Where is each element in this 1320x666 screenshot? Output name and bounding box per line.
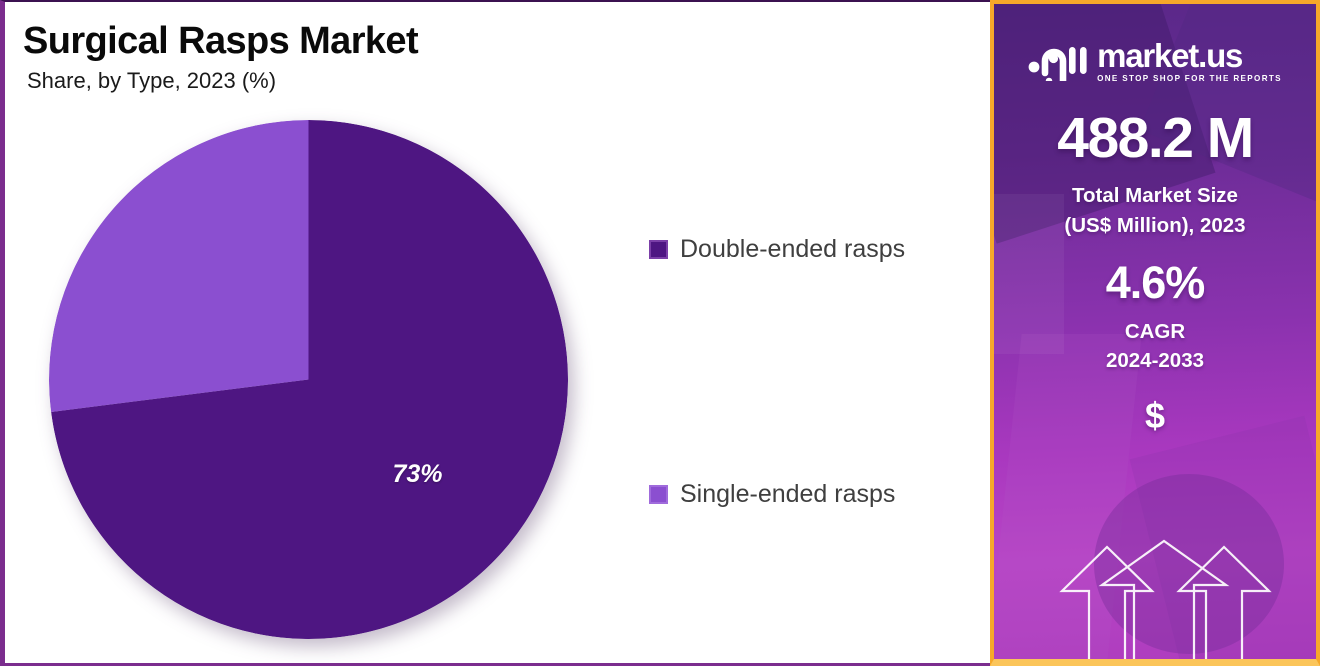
chart-header: Surgical Rasps Market Share, by Type, 20… — [23, 22, 418, 92]
pie-slices — [49, 120, 568, 639]
market-size-caption-line1: Total Market Size — [994, 181, 1316, 211]
dollar-icon: $ — [994, 398, 1316, 434]
market-size-value: 488.2 M — [994, 110, 1316, 167]
stat-content: market.us ONE STOP SHOP FOR THE REPORTS … — [994, 4, 1316, 659]
market-size-caption-line2: (US$ Million), 2023 — [994, 211, 1316, 241]
pie-chart: 73% — [49, 120, 568, 639]
pie-slice-single-ended-rasps[interactable] — [49, 120, 308, 412]
legend-label-single-ended-rasps: Single-ended rasps — [680, 482, 895, 507]
page-subtitle: Share, by Type, 2023 (%) — [27, 70, 418, 92]
market-us-logo-text: market.us ONE STOP SHOP FOR THE REPORTS — [1097, 39, 1282, 83]
chart-legend: Double-ended rasps Single-ended rasps — [649, 2, 989, 666]
legend-swatch-double-ended-rasps — [649, 240, 668, 259]
cagr-caption-line1: CAGR — [994, 318, 1316, 347]
market-us-logo[interactable]: market.us ONE STOP SHOP FOR THE REPORTS — [994, 4, 1316, 86]
chart-panel: Surgical Rasps Market Share, by Type, 20… — [0, 0, 990, 666]
growth-arrows-icon — [994, 529, 1316, 659]
market-size-caption: Total Market Size (US$ Million), 2023 — [994, 181, 1316, 240]
logo-tagline: ONE STOP SHOP FOR THE REPORTS — [1097, 75, 1282, 83]
legend-item-double-ended-rasps[interactable]: Double-ended rasps — [649, 237, 905, 262]
legend-item-single-ended-rasps[interactable]: Single-ended rasps — [649, 482, 895, 507]
stat-panel: market.us ONE STOP SHOP FOR THE REPORTS … — [990, 0, 1320, 666]
pie-svg — [49, 120, 568, 639]
cagr-caption-line2: 2024-2033 — [994, 347, 1316, 376]
cagr-value: 4.6% — [994, 260, 1316, 305]
legend-label-double-ended-rasps: Double-ended rasps — [680, 237, 905, 262]
page-title: Surgical Rasps Market — [23, 22, 418, 60]
logo-name: market.us — [1097, 39, 1282, 72]
cagr-caption: CAGR 2024-2033 — [994, 318, 1316, 375]
legend-swatch-single-ended-rasps — [649, 485, 668, 504]
market-us-logo-icon — [1028, 37, 1088, 86]
infographic-root: Surgical Rasps Market Share, by Type, 20… — [0, 0, 1320, 666]
